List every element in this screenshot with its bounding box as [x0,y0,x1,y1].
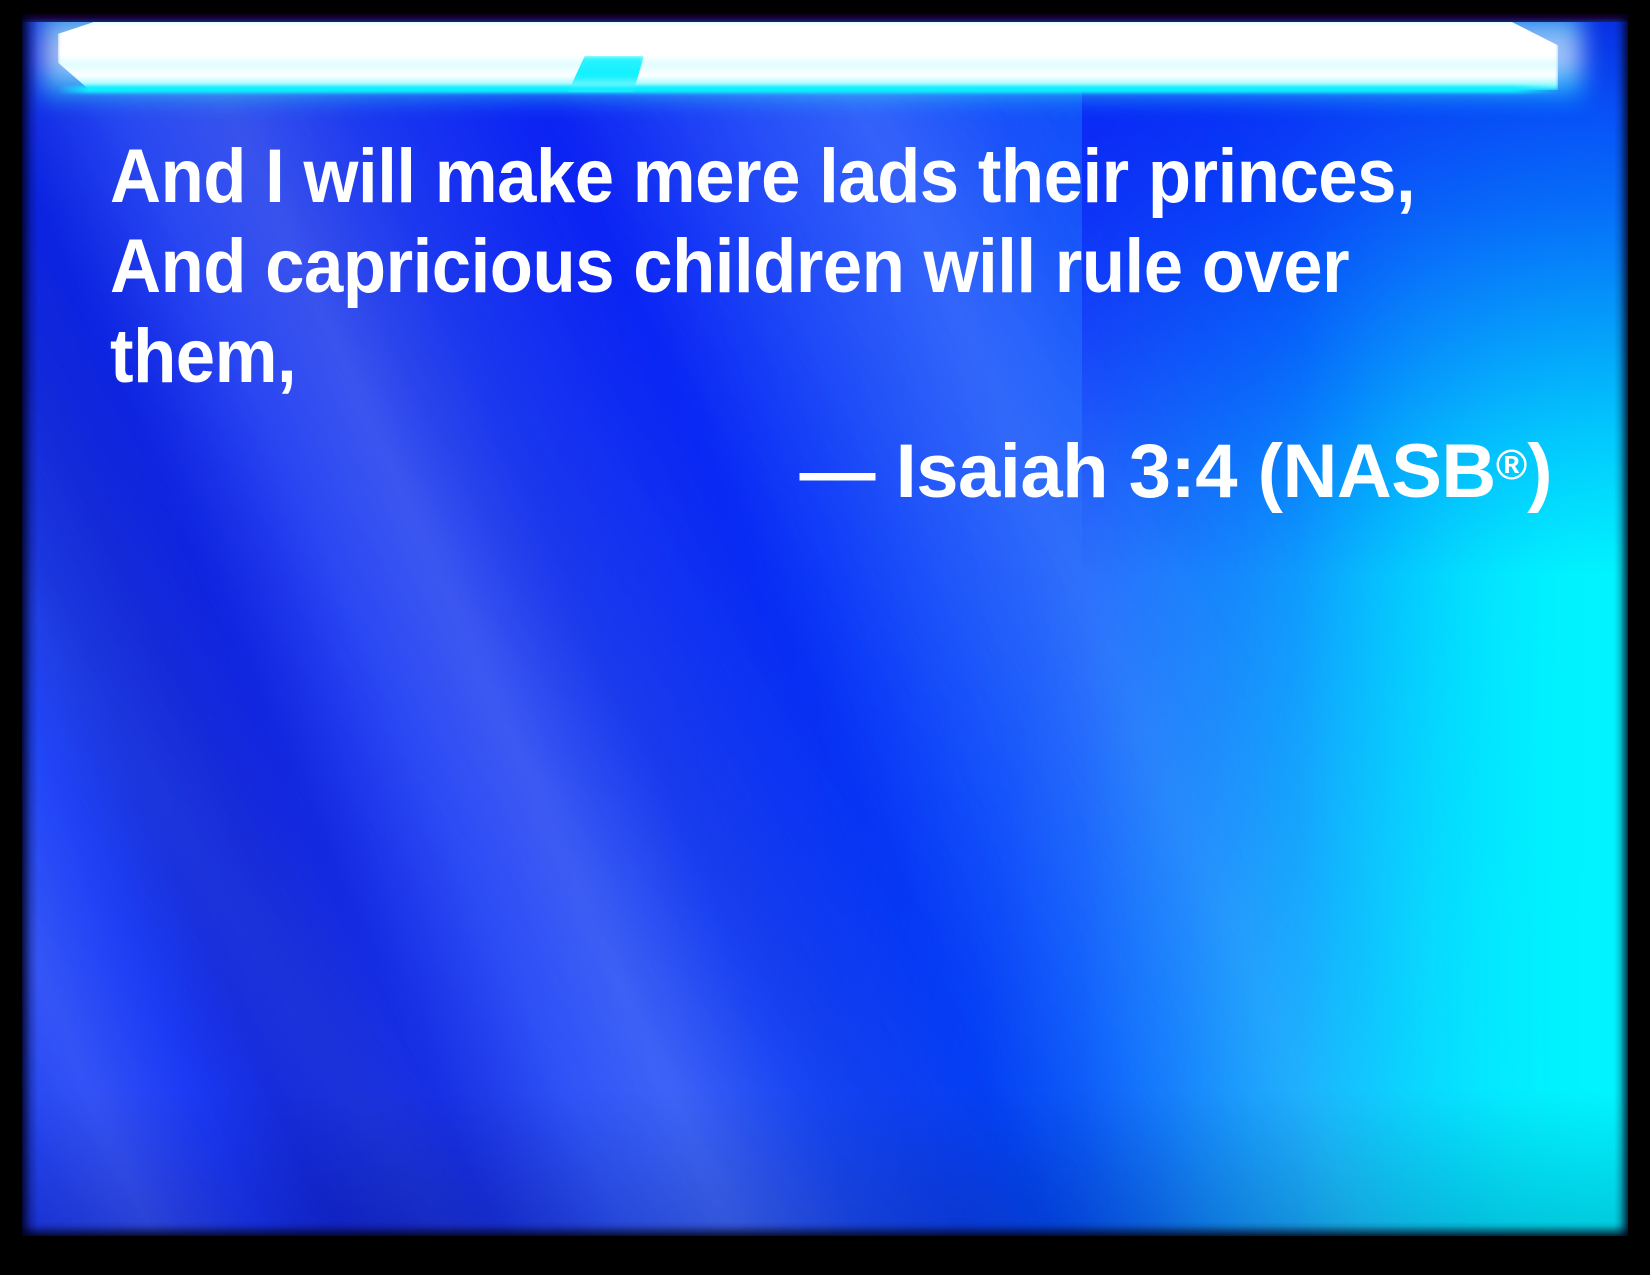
vertical-shading [22,14,1628,1236]
slide-canvas: And I will make mere lads their princes,… [22,14,1628,1236]
verse-slide: And I will make mere lads their princes,… [0,0,1650,1275]
